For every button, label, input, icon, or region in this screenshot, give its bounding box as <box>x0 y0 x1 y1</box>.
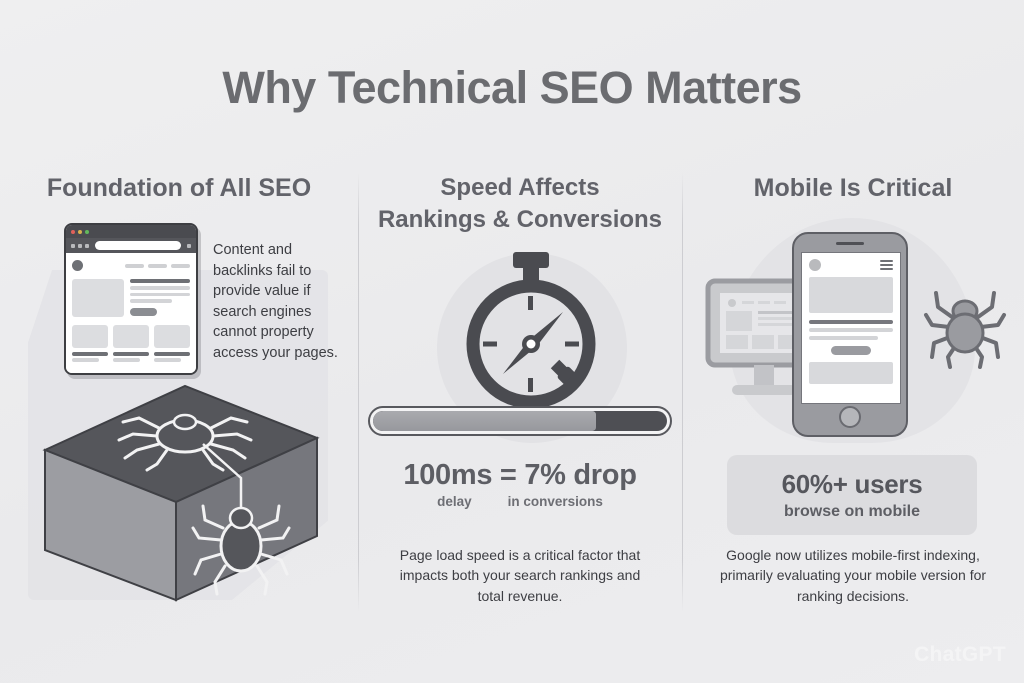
column-heading-speed-line1: Speed Affects <box>358 172 682 204</box>
card-caption <box>154 358 181 362</box>
card-thumbnail <box>72 325 108 348</box>
browser-page-content <box>66 253 196 375</box>
monitor-avatar <box>728 299 736 307</box>
mock-cta-button <box>130 308 157 316</box>
forward-arrow-icon <box>78 244 82 248</box>
monitor-card <box>752 335 774 349</box>
text-line <box>130 299 172 303</box>
phone-speaker <box>836 242 864 245</box>
monitor-base <box>732 385 796 395</box>
avatar <box>809 259 821 271</box>
phone-footer-placeholder <box>809 362 893 384</box>
phone-cta-button <box>831 346 871 355</box>
column-speed: Speed Affects Rankings & Conversions <box>358 0 682 683</box>
mock-card-grid <box>72 325 190 364</box>
card-caption <box>113 352 149 356</box>
watermark: ChatGPT <box>914 643 1006 667</box>
badge-headline: 60%+ users <box>782 469 923 500</box>
traffic-light-green-icon <box>85 230 89 234</box>
tick-12 <box>528 296 533 310</box>
card-caption <box>72 358 99 362</box>
column-body-mobile: Google now utilizes mobile-first indexin… <box>700 545 1006 606</box>
mock-hero-section <box>72 279 190 317</box>
monitor-line <box>758 323 792 326</box>
progress-bar <box>368 406 672 436</box>
monitor-nav <box>774 301 786 304</box>
column-mobile: Mobile Is Critical <box>682 0 1024 683</box>
mock-card <box>72 325 108 364</box>
traffic-light-yellow-icon <box>78 230 82 234</box>
column-body-speed: Page load speed is a critical factor tha… <box>386 545 654 606</box>
phone-hero-placeholder <box>809 277 893 313</box>
hamburger-menu-icon <box>880 260 893 270</box>
column-heading-mobile: Mobile Is Critical <box>682 172 1024 205</box>
spider-body <box>947 314 983 352</box>
card-caption <box>154 352 190 356</box>
reload-icon <box>85 244 89 248</box>
stat-sublabels: delay in conversions <box>358 494 682 509</box>
tick-9 <box>483 342 497 347</box>
monitor-card <box>726 335 748 349</box>
browser-titlebar <box>66 225 196 238</box>
phone-header <box>809 259 893 271</box>
nav-pill <box>148 264 167 268</box>
stat-sub-delay: delay <box>437 494 472 509</box>
back-arrow-icon <box>71 244 75 248</box>
card-thumbnail <box>113 325 149 348</box>
card-caption <box>113 358 140 362</box>
column-body-foundation: Content and backlinks fail to provide va… <box>213 240 355 363</box>
stopwatch-hub-center <box>527 340 536 349</box>
monitor-hero <box>726 311 752 331</box>
spider-icon <box>922 283 1008 369</box>
mock-text-lines <box>130 279 190 317</box>
menu-icon <box>187 244 191 248</box>
traffic-light-red-icon <box>71 230 75 234</box>
text-line <box>130 293 190 297</box>
avatar <box>72 260 83 271</box>
tick-3 <box>565 342 579 347</box>
phone-home-button <box>839 406 861 428</box>
monitor-nav <box>742 301 754 304</box>
status-badge: 60%+ users browse on mobile <box>727 455 977 535</box>
badge-sublabel: browse on mobile <box>784 503 920 521</box>
column-heading-foundation: Foundation of All SEO <box>0 172 358 205</box>
stat-sub-conversions: in conversions <box>508 494 603 509</box>
stat-headline: 100ms = 7% drop <box>358 459 682 492</box>
mock-card <box>113 325 149 364</box>
smartphone-icon <box>792 232 908 437</box>
phone-text-line <box>809 320 893 324</box>
cube-3d <box>35 378 325 608</box>
mock-page-header <box>72 260 190 271</box>
mock-card <box>154 325 190 364</box>
progress-track <box>373 411 667 431</box>
column-heading-speed: Speed Affects Rankings & Conversions <box>358 172 682 235</box>
monitor-nav <box>758 301 770 304</box>
progress-fill <box>373 411 596 431</box>
browser-url-bar <box>95 241 181 250</box>
card-thumbnail <box>154 325 190 348</box>
browser-toolbar <box>66 238 196 253</box>
column-foundation: Foundation of All SEO <box>0 0 358 683</box>
nav-pill <box>125 264 144 268</box>
stopwatch-icon <box>457 248 605 418</box>
browser-window-mockup <box>64 223 198 375</box>
stopwatch-crown <box>513 252 549 268</box>
text-line <box>130 279 190 283</box>
infographic-canvas: Why Technical SEO Matters Foundation of … <box>0 0 1024 683</box>
card-caption <box>72 352 108 356</box>
text-line <box>130 286 190 290</box>
phone-text-line <box>809 328 893 332</box>
hero-image-placeholder <box>72 279 124 317</box>
column-heading-speed-line2: Rankings & Conversions <box>358 204 682 236</box>
monitor-neck <box>754 365 774 387</box>
phone-text-line <box>809 336 878 340</box>
mock-nav <box>125 264 190 268</box>
phone-screen <box>801 252 901 404</box>
nav-pill <box>171 264 190 268</box>
tick-6 <box>528 378 533 392</box>
